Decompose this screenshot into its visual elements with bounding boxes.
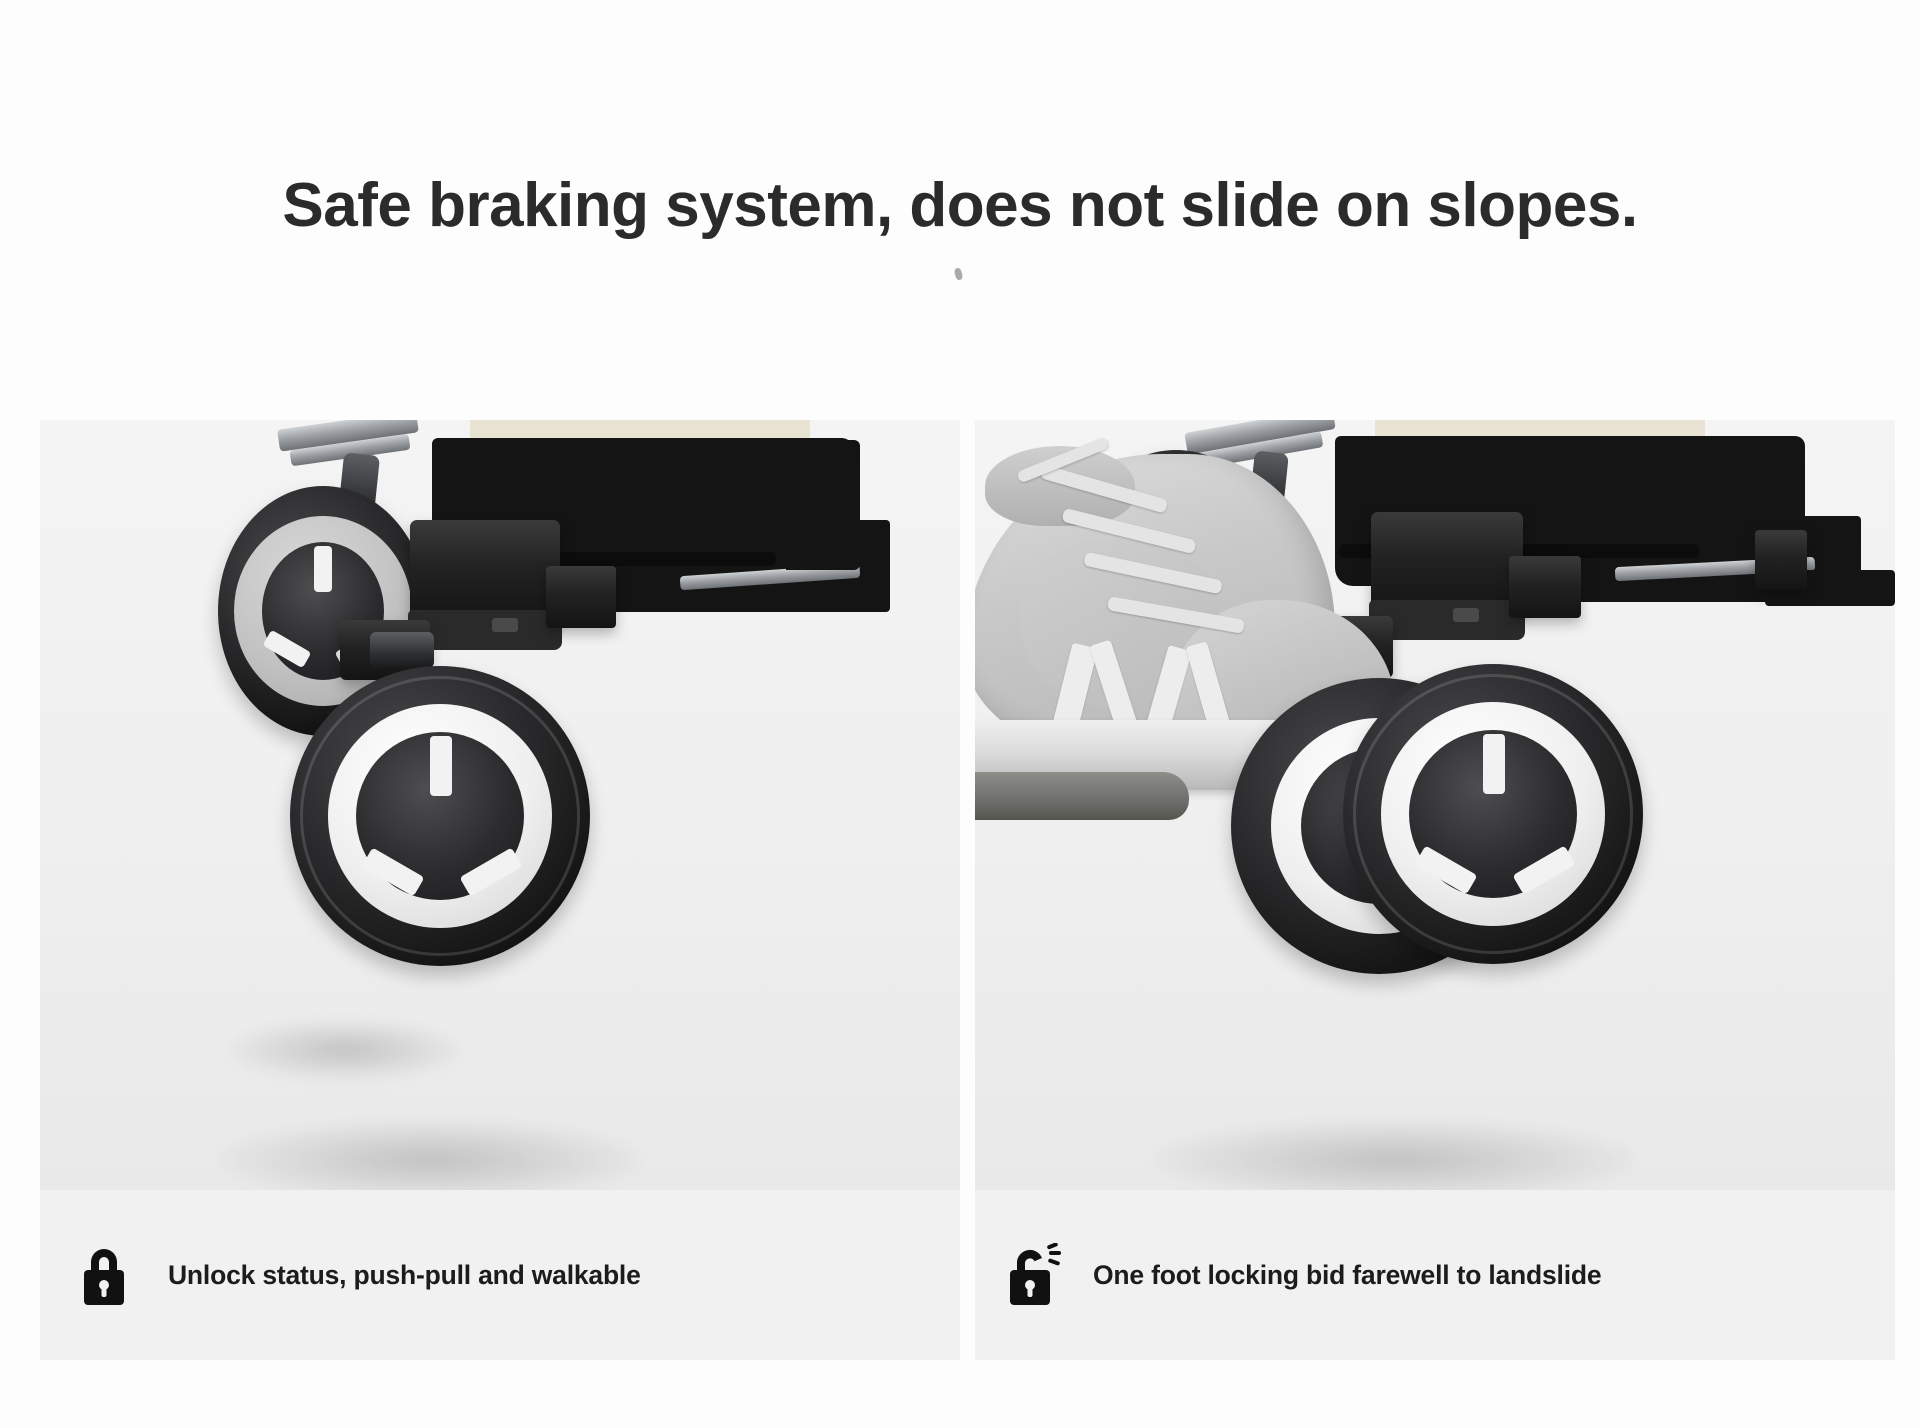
floor-shadow (230, 1020, 460, 1080)
brake-pedal-tab (1453, 608, 1479, 622)
brake-pedal-arm (1509, 556, 1581, 618)
caption-locked: One foot locking bid farewell to landsli… (975, 1190, 1895, 1360)
brake-pedal (410, 520, 560, 624)
wheel-spoke (430, 736, 452, 796)
wheel-front (290, 666, 590, 966)
caption-unlocked: Unlock status, push-pull and walkable (40, 1190, 960, 1360)
caption-text: One foot locking bid farewell to landsli… (1093, 1260, 1601, 1291)
closed-padlock-icon (40, 1190, 168, 1360)
wheel-spoke (1483, 734, 1505, 794)
floor-shadow (1155, 1120, 1635, 1190)
shoe-outsole (975, 772, 1189, 820)
caption-text: Unlock status, push-pull and walkable (168, 1260, 641, 1291)
brake-pedal (1371, 512, 1523, 614)
brake-pedal-arm (546, 566, 616, 628)
speck-artifact (954, 267, 964, 280)
panel-unlocked: Unlock status, push-pull and walkable (40, 420, 960, 1360)
page-title: Safe braking system, does not slide on s… (0, 172, 1920, 240)
photo-unlocked-brake (40, 420, 960, 1190)
wheel-spoke (314, 546, 332, 592)
product-feature-slide: Safe braking system, does not slide on s… (0, 0, 1920, 1428)
caster-stem (370, 632, 434, 668)
brake-pedal-tab (492, 618, 518, 632)
brake-pedal-arm (1755, 530, 1807, 590)
floor-shadow (220, 1120, 640, 1190)
basket-fabric-black (786, 440, 860, 570)
panel-locked: One foot locking bid farewell to landsli… (975, 420, 1895, 1360)
open-padlock-icon (975, 1190, 1093, 1360)
photo-foot-locking-brake (975, 420, 1895, 1190)
wheel-front (1343, 664, 1643, 964)
